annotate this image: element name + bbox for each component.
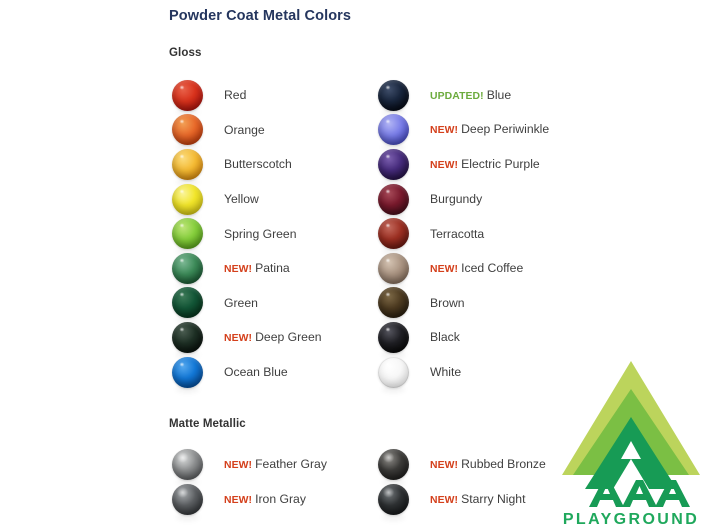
color-sphere-icon bbox=[378, 449, 409, 480]
color-swatch-blue[interactable]: UPDATED!Blue bbox=[378, 78, 584, 113]
sphere-iced-coffee bbox=[378, 253, 409, 284]
swatch-badge: UPDATED! bbox=[430, 91, 484, 102]
sphere-electric-purple bbox=[378, 149, 409, 180]
color-sphere-icon bbox=[378, 114, 409, 145]
logo-wordmark: PLAYGROUND bbox=[563, 511, 699, 527]
color-swatch-burgundy[interactable]: Burgundy bbox=[378, 182, 584, 217]
color-swatch-green[interactable]: Green bbox=[172, 286, 378, 321]
sphere-iron-gray bbox=[172, 484, 203, 515]
swatch-badge: NEW! bbox=[224, 460, 252, 471]
swatch-label: NEW!Deep Green bbox=[224, 331, 322, 344]
sphere-yellow bbox=[172, 184, 203, 215]
swatch-name: Burgundy bbox=[430, 192, 482, 206]
swatch-name: Yellow bbox=[224, 192, 259, 206]
sphere-feather-gray bbox=[172, 449, 203, 480]
color-sphere-icon bbox=[378, 184, 409, 215]
swatch-badge: NEW! bbox=[430, 460, 458, 471]
color-sphere-icon bbox=[172, 184, 203, 215]
color-sphere-icon bbox=[378, 287, 409, 318]
swatch-name: Spring Green bbox=[224, 227, 297, 241]
color-swatch-electric-purple[interactable]: NEW!Electric Purple bbox=[378, 147, 584, 182]
swatch-label: Spring Green bbox=[224, 228, 297, 240]
swatch-label: UPDATED!Blue bbox=[430, 89, 511, 102]
color-sphere-icon bbox=[378, 149, 409, 180]
color-swatch-yellow[interactable]: Yellow bbox=[172, 182, 378, 217]
color-sphere-icon bbox=[378, 484, 409, 515]
color-swatch-deep-green[interactable]: NEW!Deep Green bbox=[172, 320, 378, 355]
sphere-orange bbox=[172, 114, 203, 145]
swatch-label: NEW!Starry Night bbox=[430, 493, 525, 506]
swatch-label: NEW!Electric Purple bbox=[430, 158, 540, 171]
sphere-patina bbox=[172, 253, 203, 284]
sphere-terracotta bbox=[378, 218, 409, 249]
swatch-badge: NEW! bbox=[224, 333, 252, 344]
swatch-grid-gloss: RedUPDATED!BlueOrangeNEW!Deep Periwinkle… bbox=[172, 78, 584, 389]
swatch-label: Orange bbox=[224, 124, 265, 136]
swatch-label: NEW!Deep Periwinkle bbox=[430, 123, 549, 136]
aaa-playground-logo: PLAYGROUND bbox=[558, 355, 704, 527]
logo-mark-icon: PLAYGROUND bbox=[558, 355, 704, 527]
swatch-name: White bbox=[430, 365, 461, 379]
color-swatch-orange[interactable]: Orange bbox=[172, 113, 378, 148]
swatch-badge: NEW! bbox=[430, 495, 458, 506]
swatch-label: NEW!Iced Coffee bbox=[430, 262, 523, 275]
swatch-label: Black bbox=[430, 331, 460, 343]
color-swatch-spring-green[interactable]: Spring Green bbox=[172, 216, 378, 251]
swatch-name: Butterscotch bbox=[224, 157, 292, 171]
color-swatch-black[interactable]: Black bbox=[378, 320, 584, 355]
sphere-burgundy bbox=[378, 184, 409, 215]
sphere-brown bbox=[378, 287, 409, 318]
swatch-badge: NEW! bbox=[430, 125, 458, 136]
swatch-label: NEW!Iron Gray bbox=[224, 493, 306, 506]
color-swatch-patina[interactable]: NEW!Patina bbox=[172, 251, 378, 286]
swatch-label: NEW!Patina bbox=[224, 262, 290, 275]
color-swatch-iced-coffee[interactable]: NEW!Iced Coffee bbox=[378, 251, 584, 286]
sphere-ocean-blue bbox=[172, 357, 203, 388]
swatch-name: Feather Gray bbox=[255, 457, 327, 471]
swatch-name: Orange bbox=[224, 123, 265, 137]
color-swatch-terracotta[interactable]: Terracotta bbox=[378, 216, 584, 251]
swatch-badge: NEW! bbox=[224, 264, 252, 275]
color-sphere-icon bbox=[378, 322, 409, 353]
swatch-name: Black bbox=[430, 330, 460, 344]
swatch-grid-matte-metallic: NEW!Feather GrayNEW!Rubbed BronzeNEW!Iro… bbox=[172, 447, 584, 517]
swatch-name: Patina bbox=[255, 261, 290, 275]
color-sphere-icon bbox=[378, 357, 409, 388]
sphere-black bbox=[378, 322, 409, 353]
swatch-name: Deep Green bbox=[255, 330, 321, 344]
swatch-label: Butterscotch bbox=[224, 158, 292, 170]
swatch-badge: NEW! bbox=[430, 264, 458, 275]
swatch-label: Brown bbox=[430, 297, 465, 309]
color-swatch-rubbed-bronze[interactable]: NEW!Rubbed Bronze bbox=[378, 447, 584, 482]
swatch-name: Red bbox=[224, 88, 246, 102]
swatch-label: Red bbox=[224, 89, 246, 101]
sphere-green bbox=[172, 287, 203, 318]
color-swatch-red[interactable]: Red bbox=[172, 78, 378, 113]
swatch-name: Green bbox=[224, 296, 258, 310]
sphere-red bbox=[172, 80, 203, 111]
color-sphere-icon bbox=[172, 449, 203, 480]
color-sphere-icon bbox=[172, 484, 203, 515]
color-swatch-iron-gray[interactable]: NEW!Iron Gray bbox=[172, 482, 378, 517]
sphere-butterscotch bbox=[172, 149, 203, 180]
swatch-name: Brown bbox=[430, 296, 465, 310]
swatch-badge: NEW! bbox=[430, 160, 458, 171]
color-sphere-icon bbox=[172, 357, 203, 388]
swatch-label: Yellow bbox=[224, 193, 259, 205]
swatch-name: Terracotta bbox=[430, 227, 484, 241]
swatch-label: Ocean Blue bbox=[224, 366, 288, 378]
swatch-label: Green bbox=[224, 297, 258, 309]
section-heading-matte-metallic: Matte Metallic bbox=[169, 418, 246, 430]
swatch-name: Blue bbox=[487, 88, 511, 102]
sphere-white bbox=[378, 357, 409, 388]
swatch-label: Terracotta bbox=[430, 228, 484, 240]
color-chart-page: Powder Coat Metal Colors Gloss RedUPDATE… bbox=[0, 0, 707, 530]
color-sphere-icon bbox=[172, 80, 203, 111]
color-swatch-brown[interactable]: Brown bbox=[378, 286, 584, 321]
swatch-name: Iron Gray bbox=[255, 492, 306, 506]
sphere-deep-green bbox=[172, 322, 203, 353]
color-sphere-icon bbox=[172, 287, 203, 318]
color-sphere-icon bbox=[172, 114, 203, 145]
color-sphere-icon bbox=[172, 322, 203, 353]
swatch-label: White bbox=[430, 366, 461, 378]
sphere-spring-green bbox=[172, 218, 203, 249]
color-sphere-icon bbox=[378, 253, 409, 284]
swatch-name: Rubbed Bronze bbox=[461, 457, 546, 471]
sphere-deep-periwinkle bbox=[378, 114, 409, 145]
color-sphere-icon bbox=[172, 253, 203, 284]
color-sphere-icon bbox=[172, 149, 203, 180]
swatch-name: Starry Night bbox=[461, 492, 525, 506]
color-swatch-deep-periwinkle[interactable]: NEW!Deep Periwinkle bbox=[378, 113, 584, 148]
swatch-name: Electric Purple bbox=[461, 157, 540, 171]
swatch-label: Burgundy bbox=[430, 193, 482, 205]
swatch-label: NEW!Feather Gray bbox=[224, 458, 327, 471]
swatch-name: Ocean Blue bbox=[224, 365, 288, 379]
swatch-label: NEW!Rubbed Bronze bbox=[430, 458, 546, 471]
sphere-blue bbox=[378, 80, 409, 111]
page-title: Powder Coat Metal Colors bbox=[169, 8, 351, 24]
sphere-starry-night bbox=[378, 484, 409, 515]
swatch-name: Deep Periwinkle bbox=[461, 122, 549, 136]
sphere-rubbed-bronze bbox=[378, 449, 409, 480]
logo-aaa-letters bbox=[589, 480, 690, 507]
color-swatch-white[interactable]: White bbox=[378, 355, 584, 390]
color-swatch-ocean-blue[interactable]: Ocean Blue bbox=[172, 355, 378, 390]
swatch-badge: NEW! bbox=[224, 495, 252, 506]
color-sphere-icon bbox=[378, 80, 409, 111]
color-sphere-icon bbox=[378, 218, 409, 249]
color-swatch-feather-gray[interactable]: NEW!Feather Gray bbox=[172, 447, 378, 482]
color-sphere-icon bbox=[172, 218, 203, 249]
swatch-name: Iced Coffee bbox=[461, 261, 523, 275]
section-heading-gloss: Gloss bbox=[169, 47, 201, 59]
color-swatch-butterscotch[interactable]: Butterscotch bbox=[172, 147, 378, 182]
color-swatch-starry-night[interactable]: NEW!Starry Night bbox=[378, 482, 584, 517]
